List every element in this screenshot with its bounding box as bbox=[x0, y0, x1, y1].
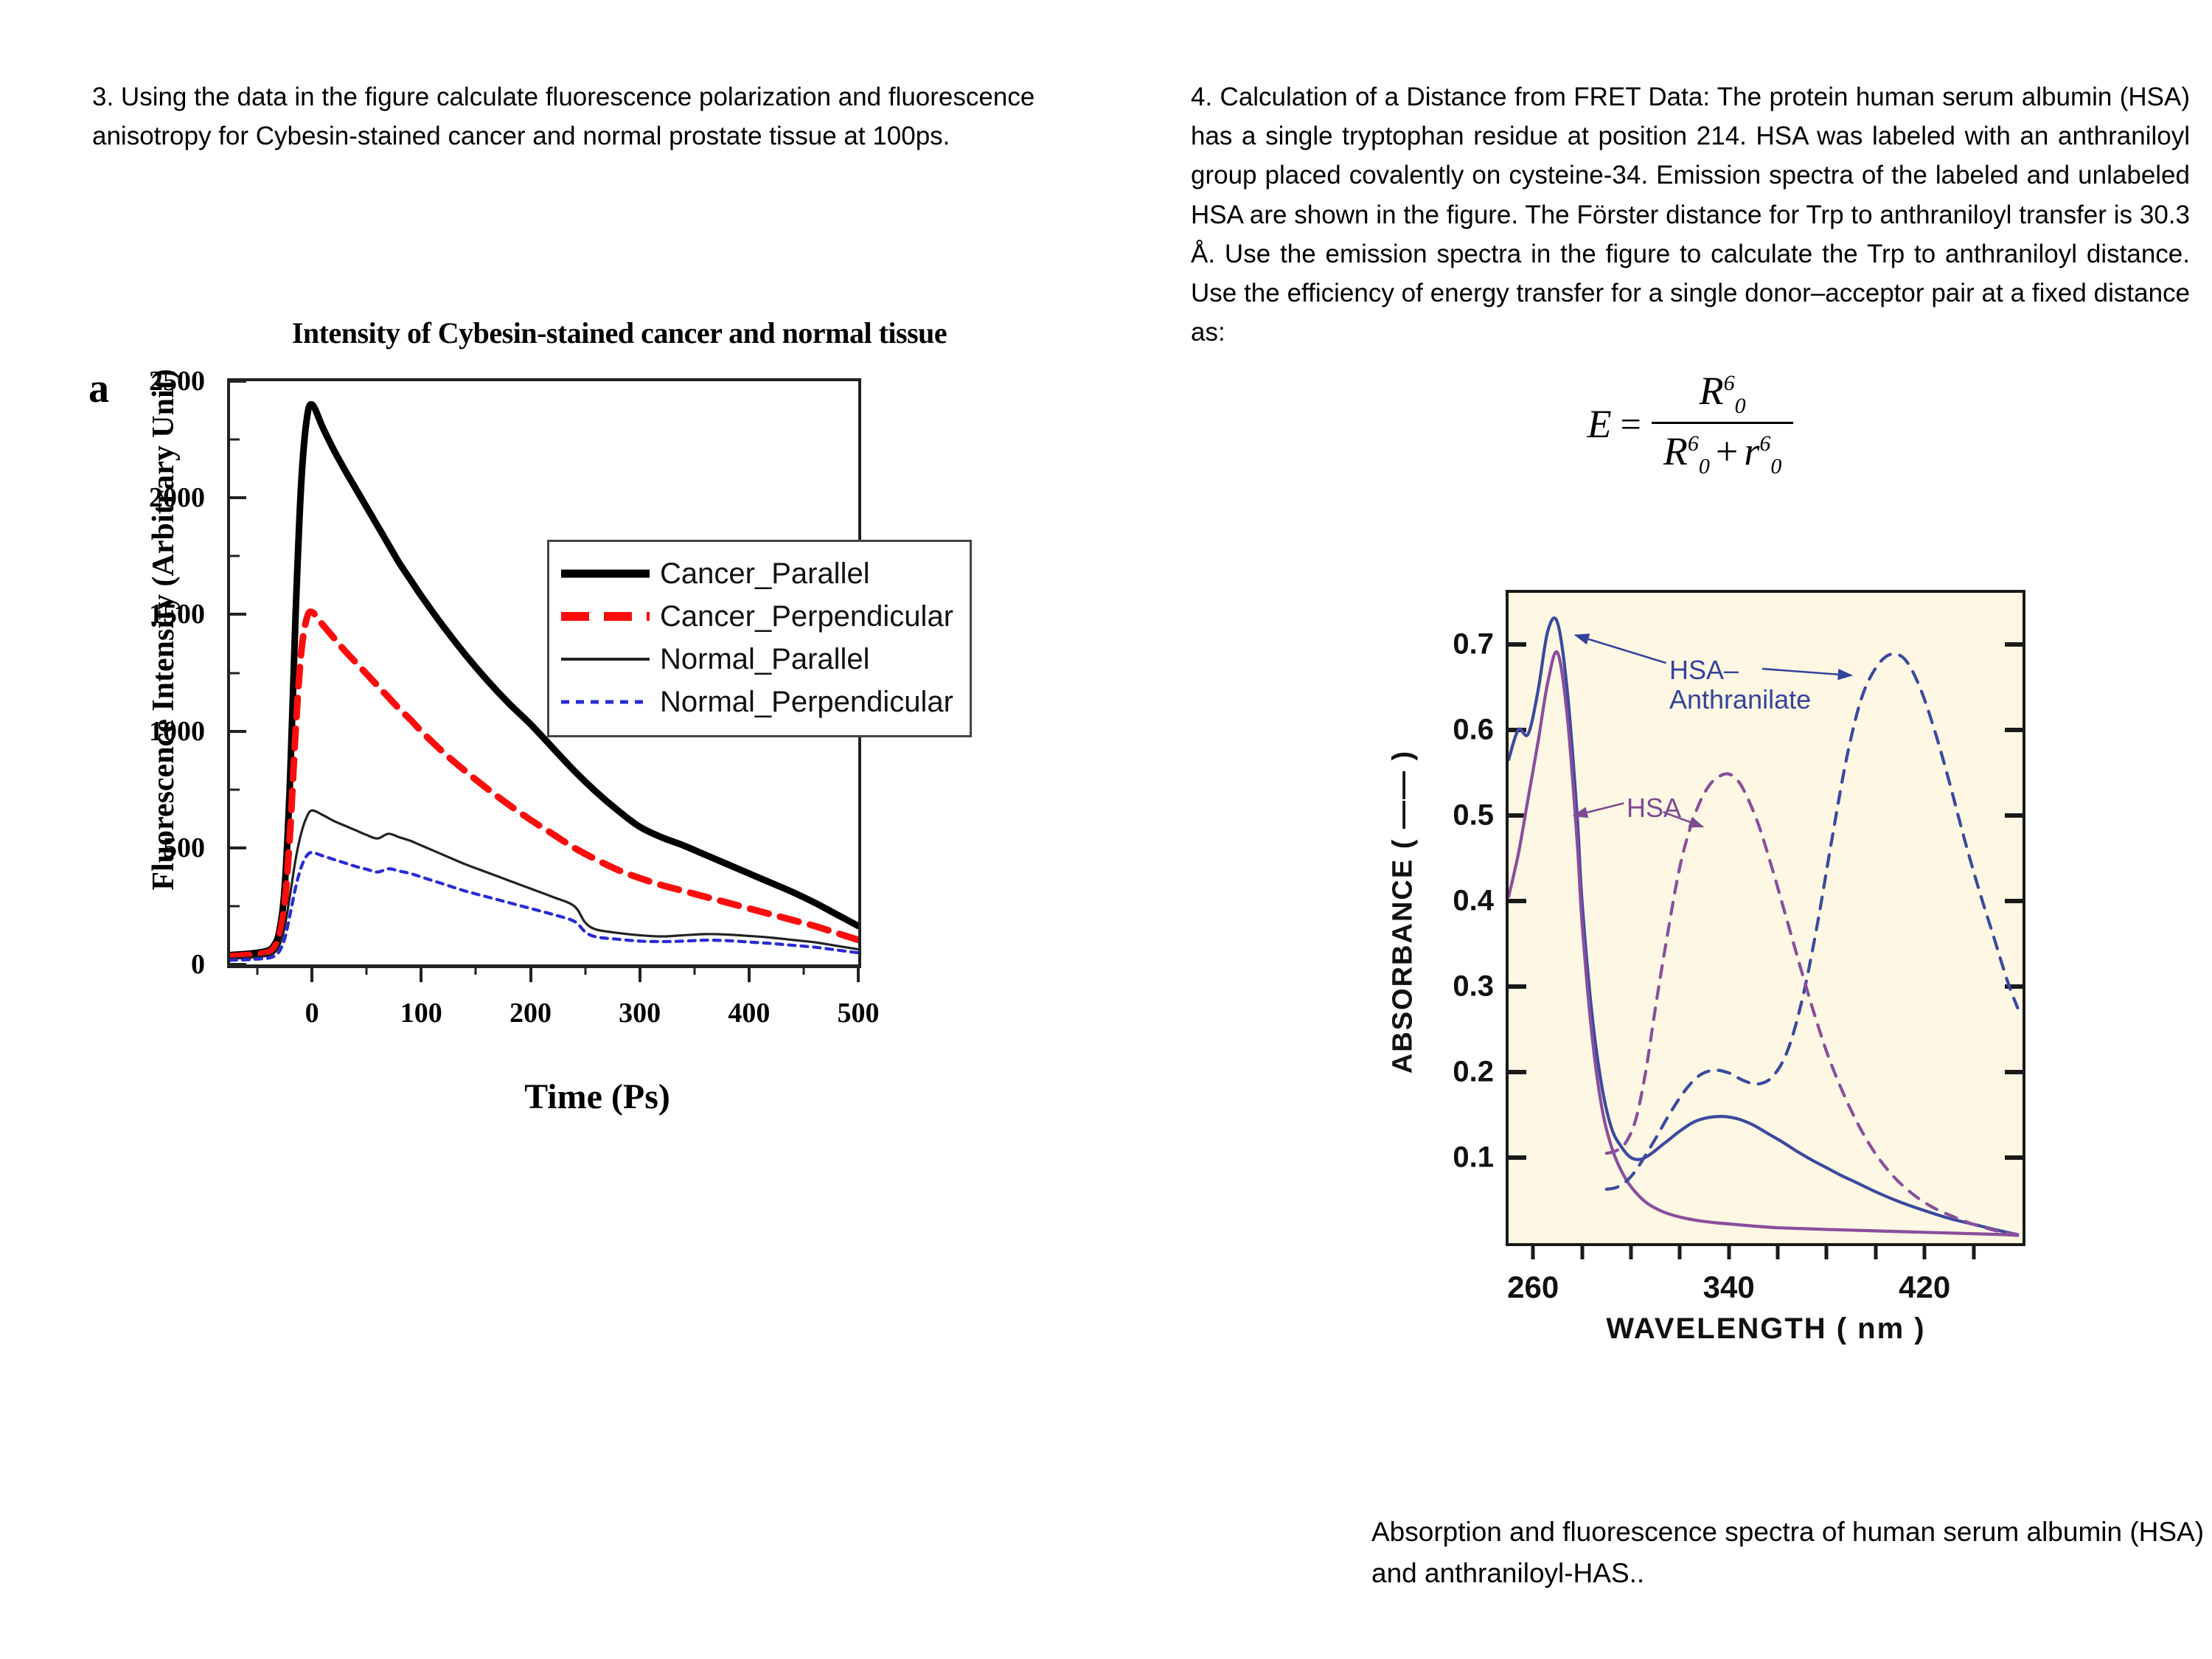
y-tick-label-0p5: 0.5 bbox=[1453, 799, 1509, 832]
legend-key-solid-thin bbox=[561, 650, 650, 668]
legend-item-normal-parallel: Normal_Parallel bbox=[561, 638, 953, 681]
x-tick-label-420: 420 bbox=[1899, 1243, 1950, 1305]
x-tick-mark-minor bbox=[802, 964, 804, 975]
y-tick-label-0: 0 bbox=[191, 948, 230, 981]
den-second-base: r bbox=[1744, 429, 1759, 473]
annotation-line-1: HSA bbox=[1627, 793, 1681, 823]
annotation-line-1: HSA– bbox=[1669, 655, 1811, 685]
num-base: R bbox=[1700, 369, 1724, 413]
legend-item-normal-perpendicular: Normal_Perpendicular bbox=[561, 681, 953, 723]
y-tick-label-0p1: 0.1 bbox=[1453, 1141, 1509, 1174]
x-tick-mark-minor bbox=[693, 964, 695, 975]
equation-numerator: R60 bbox=[1688, 368, 1758, 422]
x-tick-mark-380 bbox=[1825, 1243, 1829, 1259]
y-tick-label-500: 500 bbox=[163, 832, 230, 864]
y-tick-label-0p6: 0.6 bbox=[1453, 713, 1509, 746]
x-tick-label-200: 200 bbox=[509, 964, 552, 1029]
equation-equals: = bbox=[1621, 403, 1641, 445]
chart-a-plot-area: 0 500 1000 1500 2000 2500 0 100 200 300 … bbox=[227, 378, 861, 968]
annotation-hsa-anthranilate: HSA– Anthranilate bbox=[1669, 655, 1811, 715]
question-4-text: 4. Calculation of a Distance from FRET D… bbox=[1191, 77, 2190, 352]
panel-letter-a: a bbox=[88, 365, 109, 412]
num-sub: 0 bbox=[1735, 394, 1746, 418]
chart-b-y-axis-label-left: ABSORBANCE ( —— ) bbox=[1388, 632, 1419, 1192]
x-tick-label-0: 0 bbox=[305, 964, 319, 1029]
x-tick-label-500: 500 bbox=[838, 964, 880, 1029]
den-first-sup: 6 bbox=[1688, 431, 1699, 456]
x-tick-label-340: 340 bbox=[1703, 1243, 1755, 1305]
legend-item-cancer-perpendicular: Cancer_Perpendicular bbox=[561, 595, 953, 638]
series-hsa-fluorescence bbox=[1607, 773, 2018, 1234]
chart-a-title: Intensity of Cybesin-stained cancer and … bbox=[251, 316, 988, 350]
den-plus: + bbox=[1710, 429, 1744, 473]
x-tick-mark-320 bbox=[1678, 1243, 1682, 1259]
x-tick-mark-minor bbox=[584, 964, 586, 975]
equation-lhs: E bbox=[1587, 401, 1612, 447]
den-second-sup: 6 bbox=[1759, 431, 1770, 456]
chart-a-x-axis-label: Time (Ps) bbox=[229, 1077, 966, 1117]
y-tick-label-2500: 2500 bbox=[149, 365, 230, 397]
y-tick-label-0p4: 0.4 bbox=[1453, 884, 1509, 917]
legend-item-cancer-parallel: Cancer_Parallel bbox=[561, 552, 953, 595]
y-tick-label-0p7: 0.7 bbox=[1453, 627, 1509, 661]
x-tick-mark-280 bbox=[1580, 1243, 1584, 1259]
y-tick-label-1500: 1500 bbox=[149, 598, 230, 630]
equation-fraction: R60 R60+r60 bbox=[1652, 368, 1793, 479]
legend-label: Normal_Parallel bbox=[660, 643, 870, 676]
series-normal-perpendicular bbox=[230, 852, 858, 960]
x-tick-mark-300 bbox=[1629, 1243, 1632, 1259]
series-hsa-anthranilate-fluorescence bbox=[1607, 654, 2018, 1189]
series-normal-parallel bbox=[230, 810, 858, 959]
x-tick-label-260: 260 bbox=[1507, 1243, 1559, 1305]
annotation-hsa: HSA bbox=[1627, 793, 1681, 823]
legend-key-dashed-red bbox=[561, 608, 650, 625]
chart-panel-b: ABSORBANCE ( —— ) RELATIVE FLUORESCENCE … bbox=[1360, 571, 2194, 1493]
den-first-sub: 0 bbox=[1699, 454, 1710, 479]
equation-denominator: R60+r60 bbox=[1652, 422, 1793, 479]
y-tick-label-0p2: 0.2 bbox=[1453, 1055, 1509, 1088]
legend-label: Normal_Perpendicular bbox=[660, 686, 953, 719]
legend-label: Cancer_Parallel bbox=[660, 557, 870, 591]
chart-b-x-axis-label: WAVELENGTH ( nm ) bbox=[1434, 1312, 2098, 1346]
x-tick-label-400: 400 bbox=[728, 964, 770, 1029]
chart-b-plot-area: 0.1 0.2 0.3 0.4 0.5 0.6 0.7 260 340 420 bbox=[1506, 590, 2025, 1246]
series-hsa-absorbance bbox=[1509, 652, 2017, 1236]
legend-key-dotted-blue bbox=[561, 693, 650, 711]
annotation-line-2: Anthranilate bbox=[1669, 685, 1811, 714]
x-tick-label-100: 100 bbox=[400, 964, 442, 1029]
x-tick-mark-minor bbox=[366, 964, 368, 975]
x-tick-label-300: 300 bbox=[619, 964, 661, 1029]
fret-efficiency-equation: E = R60 R60+r60 bbox=[1191, 368, 2190, 479]
x-tick-mark-minor bbox=[475, 964, 477, 975]
x-tick-mark-minor bbox=[257, 964, 259, 975]
page-root: 3. Using the data in the figure calculat… bbox=[0, 0, 2212, 1659]
y-tick-label-0p3: 0.3 bbox=[1453, 970, 1509, 1003]
chart-a-legend: Cancer_Parallel Cancer_Perpendicular Nor… bbox=[547, 540, 972, 737]
y-tick-label-2000: 2000 bbox=[149, 481, 230, 514]
x-tick-mark-360 bbox=[1776, 1243, 1780, 1259]
figure-b-caption: Absorption and fluorescence spectra of h… bbox=[1371, 1512, 2205, 1593]
legend-key-solid-thick bbox=[561, 565, 650, 582]
x-tick-mark-400 bbox=[1874, 1243, 1877, 1259]
den-second-sub: 0 bbox=[1770, 454, 1781, 479]
num-sup: 6 bbox=[1724, 371, 1735, 395]
chart-panel-a: a Intensity of Cybesin-stained cancer an… bbox=[81, 295, 1084, 1180]
question-3-text: 3. Using the data in the figure calculat… bbox=[92, 77, 1073, 156]
den-first-base: R bbox=[1663, 429, 1688, 473]
left-column: 3. Using the data in the figure calculat… bbox=[92, 77, 1073, 156]
x-tick-mark-440 bbox=[1972, 1243, 1975, 1259]
y-tick-label-1000: 1000 bbox=[149, 715, 230, 748]
legend-label: Cancer_Perpendicular bbox=[660, 600, 953, 633]
right-column: 4. Calculation of a Distance from FRET D… bbox=[1191, 77, 2190, 479]
